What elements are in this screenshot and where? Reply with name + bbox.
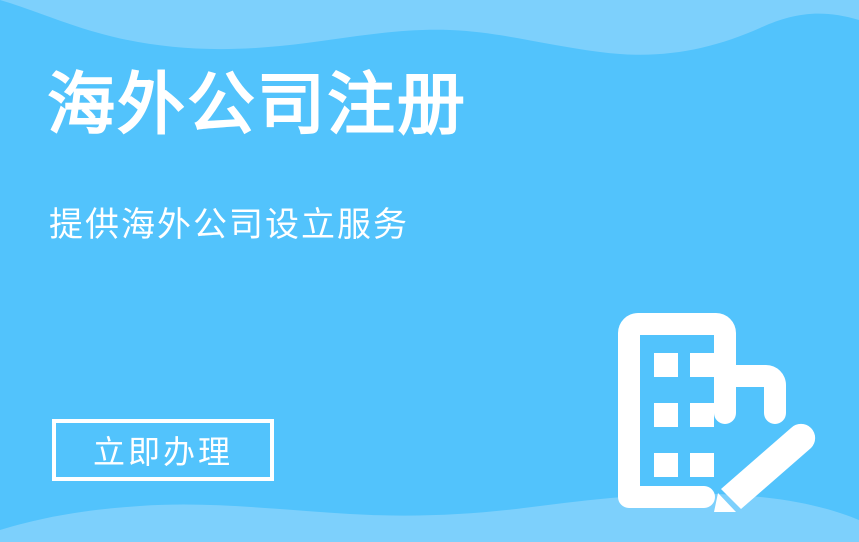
building-window (654, 403, 678, 427)
company-registration-illustration (608, 303, 823, 518)
promo-banner: 海外公司注册 提供海外公司设立服务 立即办理 (0, 0, 859, 542)
building-window (690, 403, 714, 427)
building-window (690, 453, 714, 477)
pencil-icon (714, 424, 815, 512)
building-window (654, 453, 678, 477)
wave-decoration-top (0, 0, 859, 70)
building-window (690, 353, 714, 377)
banner-headline: 海外公司注册 (47, 72, 467, 140)
building-window (654, 353, 678, 377)
banner-subheadline: 提供海外公司设立服务 (49, 208, 409, 242)
cta-button[interactable]: 立即办理 (52, 419, 274, 481)
